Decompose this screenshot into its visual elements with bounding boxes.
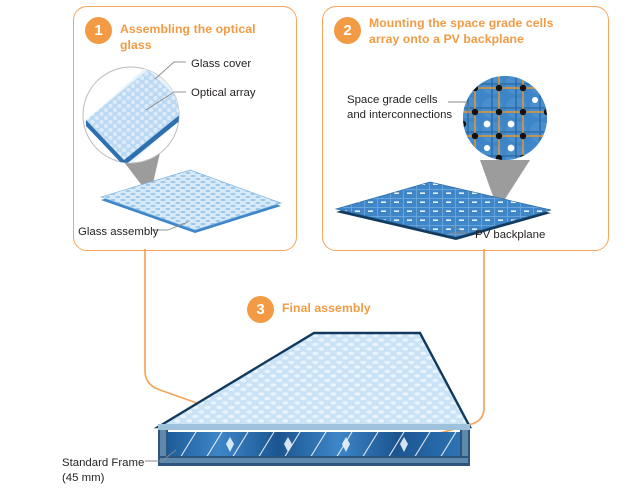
label-standard-frame: Standard Frame (45 mm) xyxy=(62,456,144,487)
zoom-circle-space-cells xyxy=(460,76,550,161)
step-3-title: Final assembly xyxy=(282,301,432,317)
step-2-badge: 2 xyxy=(334,17,361,44)
label-optical-array: Optical array xyxy=(191,86,256,101)
diagram-canvas: 1 Assembling the optical glass 2 Mountin… xyxy=(0,0,628,494)
zoom-circle-optical-array xyxy=(83,62,196,166)
step-connector-left xyxy=(145,249,228,414)
step-3-badge: 3 xyxy=(247,296,274,323)
glass-assembly-plate xyxy=(101,170,281,233)
label-glass-assembly: Glass assembly xyxy=(78,225,158,240)
step-1-badge: 1 xyxy=(85,17,112,44)
diagram-artwork xyxy=(0,0,628,494)
final-assembly-module xyxy=(150,330,480,466)
step-2-title: Mounting the space grade cells array ont… xyxy=(369,16,584,47)
label-space-grade-cells: Space grade cells and interconnections xyxy=(347,93,452,124)
label-pv-backplane: PV backplane xyxy=(475,228,545,243)
step-1-title: Assembling the optical glass xyxy=(120,22,290,53)
label-glass-cover: Glass cover xyxy=(191,57,251,72)
